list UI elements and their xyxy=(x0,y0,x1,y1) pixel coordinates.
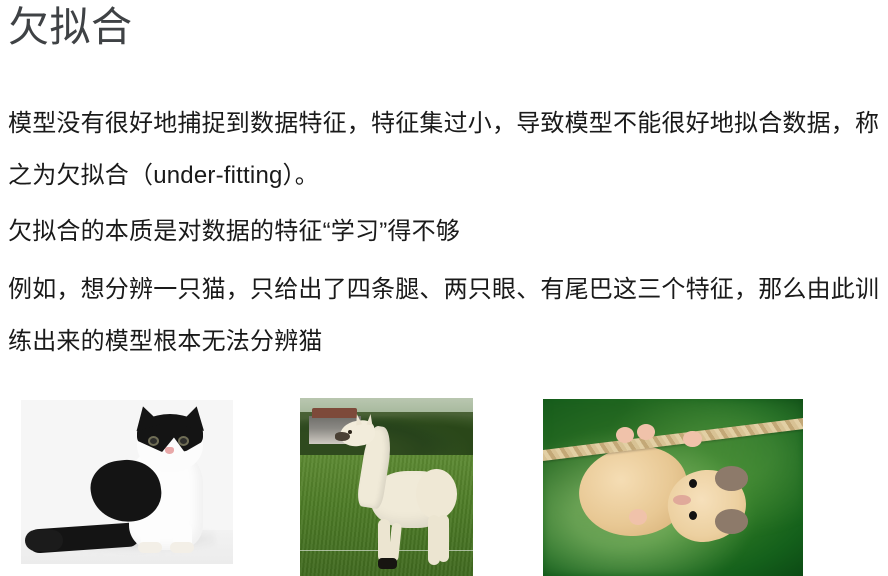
hamster-photo xyxy=(543,399,803,576)
slide-page: 欠拟合 模型没有很好地捕捉到数据特征，特征集过小，导致模型不能很好地拟合数据，称… xyxy=(0,0,888,576)
hamster-ear-lower xyxy=(715,509,749,534)
alpaca-hind-leg-right xyxy=(438,515,448,561)
alpaca-hoof xyxy=(378,558,397,569)
hamster-eye-upper xyxy=(689,479,697,488)
paragraph-example: 例如，想分辨一只猫，只给出了四条腿、两只眼、有尾巴这三个特征，那么由此训练出来的… xyxy=(8,264,888,368)
hamster-paw-hind-left xyxy=(629,509,647,525)
hamster-paw-front-right xyxy=(637,424,655,440)
hamster-eye-lower xyxy=(689,511,697,520)
alpaca-rump xyxy=(416,469,458,519)
alpaca-muzzle xyxy=(335,432,351,441)
hamster-ear-upper xyxy=(715,466,749,491)
hamster-paw-hind-right xyxy=(683,431,701,447)
cat-paw-right xyxy=(170,542,194,553)
alpaca-photo xyxy=(300,398,473,576)
paragraph-essence: 欠拟合的本质是对数据的特征“学习”得不够 xyxy=(8,206,884,258)
paragraph-definition: 模型没有很好地捕捉到数据特征，特征集过小，导致模型不能很好地拟合数据，称之为欠拟… xyxy=(8,98,888,202)
cat-tail-tip xyxy=(25,530,63,551)
page-title: 欠拟合 xyxy=(8,2,133,53)
cat-eye-left xyxy=(148,436,159,446)
cat-paw-left xyxy=(138,542,162,553)
cat-photo xyxy=(21,400,233,564)
body-copy: 模型没有很好地捕捉到数据特征，特征集过小，导致模型不能很好地拟合数据，称之为欠拟… xyxy=(8,98,884,376)
cat-nose xyxy=(165,447,174,454)
figure-row xyxy=(0,398,888,576)
cat-eye-right xyxy=(178,436,189,446)
